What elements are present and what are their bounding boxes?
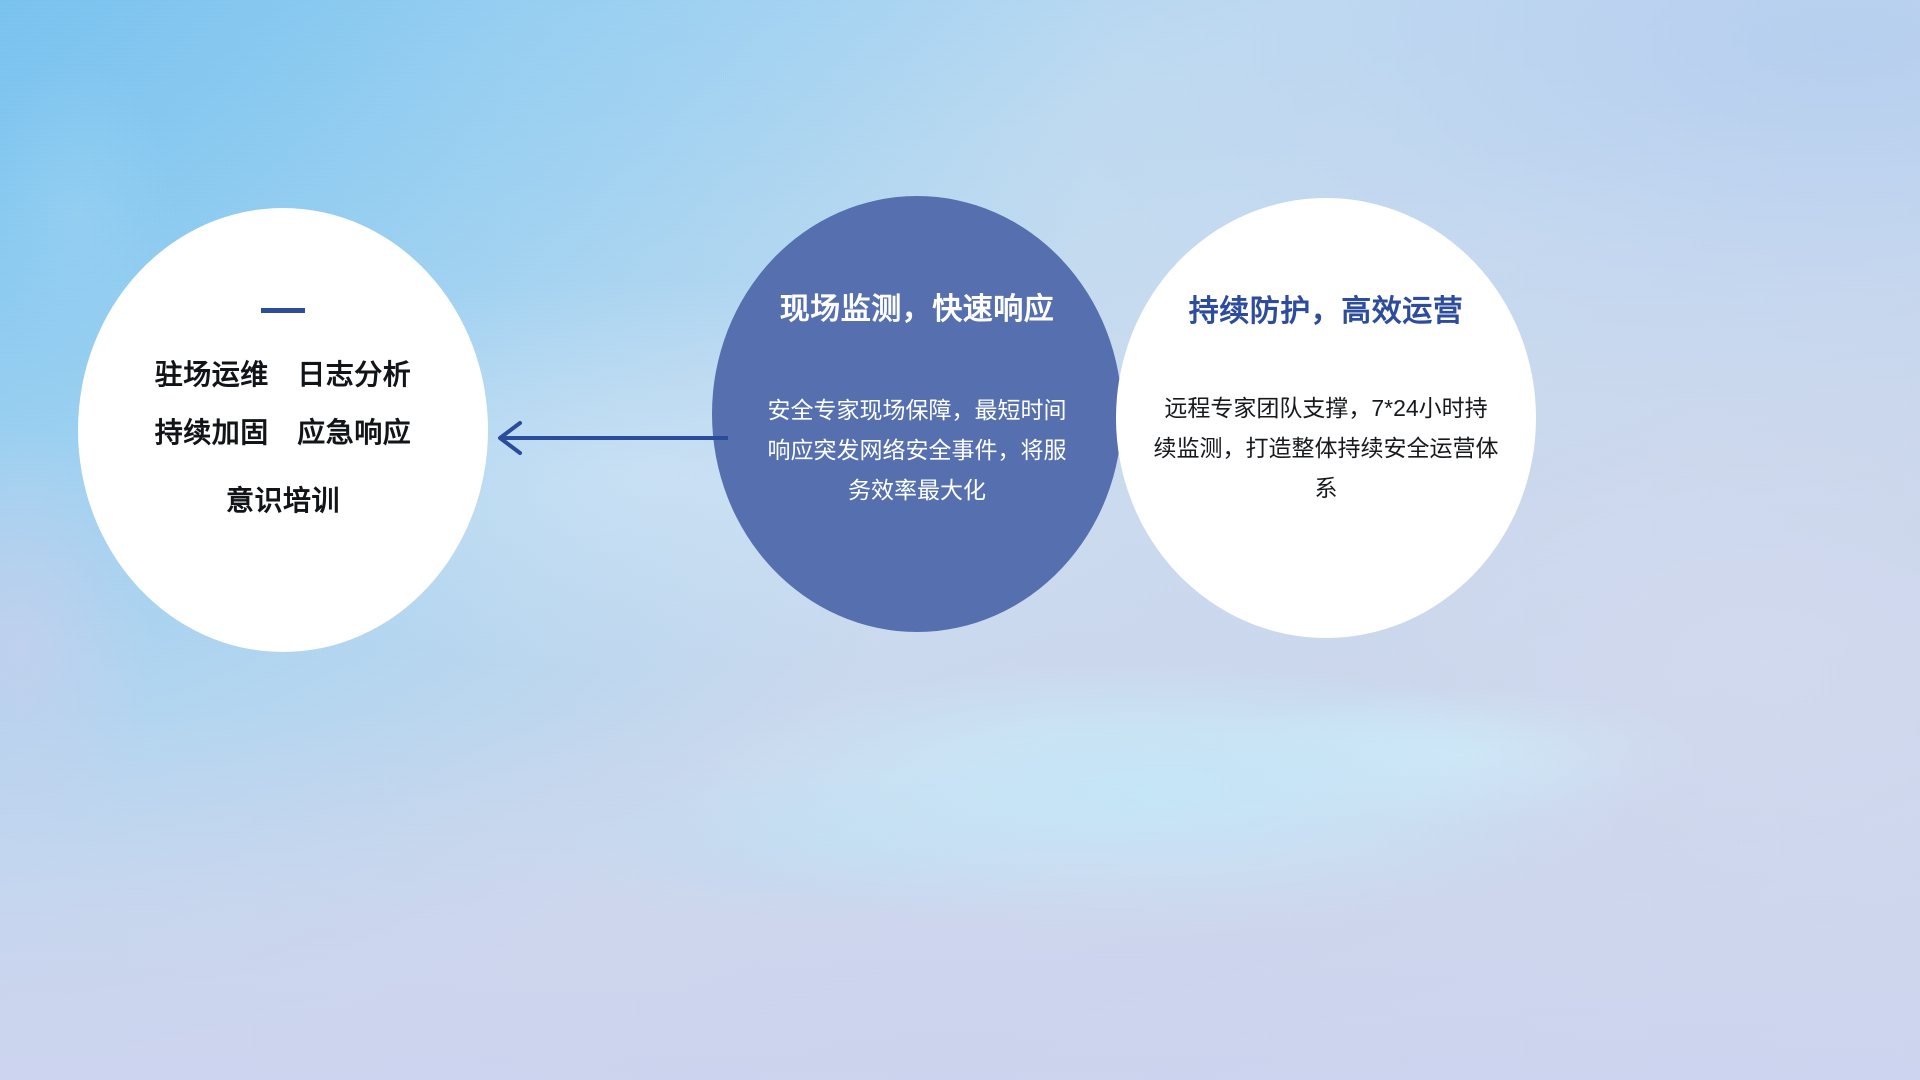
- capability-line-1: 驻场运维 日志分析: [155, 361, 412, 389]
- horizontal-dash-icon: [261, 308, 305, 313]
- onsite-monitoring-title: 现场监测，快速响应: [780, 284, 1055, 328]
- continuous-protection-title: 持续防护，高效运营: [1189, 286, 1464, 330]
- arrow-left-icon: [480, 408, 730, 468]
- continuous-protection-circle[interactable]: 持续防护，高效运营 远程专家团队支撑，7*24小时持续监测，打造整体持续安全运营…: [1116, 198, 1536, 638]
- capability-line-3: 意识培训: [226, 487, 340, 515]
- onsite-monitoring-body: 安全专家现场保障，最短时间响应突发网络安全事件，将服务效率最大化: [767, 390, 1067, 510]
- capability-line-2: 持续加固 应急响应: [155, 419, 412, 447]
- service-capability-circle[interactable]: 驻场运维 日志分析 持续加固 应急响应 意识培训: [78, 208, 488, 652]
- continuous-protection-body: 远程专家团队支撑，7*24小时持续监测，打造整体持续安全运营体系: [1154, 388, 1499, 508]
- onsite-monitoring-circle[interactable]: 现场监测，快速响应 安全专家现场保障，最短时间响应突发网络安全事件，将服务效率最…: [712, 196, 1122, 632]
- slide-canvas: 驻场运维 日志分析 持续加固 应急响应 意识培训 现场监测，快速响应 安全专家现…: [0, 0, 1920, 1080]
